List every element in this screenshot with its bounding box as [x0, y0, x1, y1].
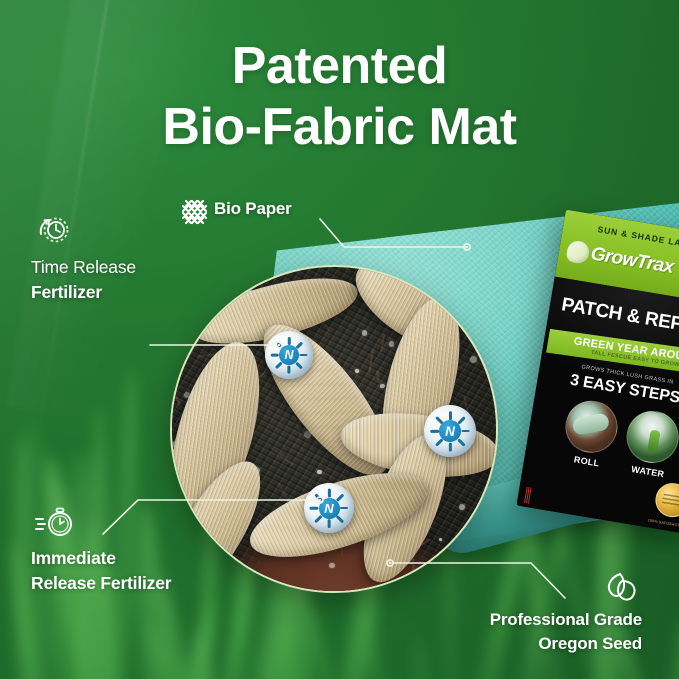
- callout-label-bio-paper: Bio Paper: [214, 199, 292, 219]
- nutrient-label: N: [304, 483, 354, 533]
- nutrient-sphere-lower: N: [304, 483, 354, 533]
- package-step-label: WATER: [620, 462, 675, 481]
- nutrient-label: N: [265, 331, 313, 379]
- infographic-canvas: Patented Bio-Fabric Mat SUN & SHADE LAWN…: [0, 0, 679, 679]
- watering-can-icon: [623, 407, 679, 467]
- fertilizer-granule: [459, 504, 465, 510]
- package-step-label: ROLL: [559, 452, 614, 471]
- soil-fiber: [274, 449, 295, 466]
- fertilizer-granule: [443, 290, 449, 296]
- callout-label-text: Time Release: [31, 255, 136, 280]
- fertilizer-granule: [380, 384, 385, 389]
- callout-label-immediate-release-fertilizer: Immediate Release Fertilizer: [31, 546, 171, 596]
- fertilizer-granule: [362, 330, 367, 335]
- magnified-cross-section: NNN: [170, 265, 498, 593]
- fertilizer-granule: [470, 356, 477, 363]
- soil-fiber: [368, 348, 375, 373]
- package-steps-list: ROLL WATER: [531, 392, 679, 486]
- callout-label-text: Release Fertilizer: [31, 571, 171, 596]
- brand-name: GrowTrax: [589, 243, 675, 278]
- soil-fiber: [175, 396, 181, 405]
- headline-line-1: Patented: [0, 36, 679, 96]
- package-guarantee-seal-icon: [653, 481, 679, 520]
- headline-line-2: Bio-Fabric Mat: [0, 96, 679, 158]
- soil-fiber: [195, 296, 202, 302]
- callout-label-time-release-fertilizer: Time Release Fertilizer: [31, 255, 136, 305]
- package-barcode: [524, 487, 532, 504]
- page-title: Patented Bio-Fabric Mat: [0, 36, 679, 158]
- soil-fiber: [380, 333, 385, 352]
- clock-arrow-icon: [33, 212, 73, 257]
- fertilizer-granule: [329, 563, 335, 569]
- callout-label-text: Oregon Seed: [472, 632, 642, 656]
- fertilizer-granule: [355, 369, 359, 373]
- callout-label-text: Fertilizer: [31, 280, 136, 305]
- nutrient-label: N: [424, 405, 476, 457]
- package-step-roll: ROLL: [559, 397, 623, 471]
- callout-label-professional-grade-oregon-seed: Professional Grade Oregon Seed: [472, 608, 642, 656]
- package-seal-caption: 100% SATISFACTION GUARANTEED: [647, 518, 679, 529]
- soil-fiber: [412, 558, 416, 573]
- callout-label-text: Professional Grade: [472, 608, 642, 632]
- roll-mat-icon: [562, 397, 622, 457]
- nutrient-sphere-upper: N: [265, 331, 313, 379]
- woven-mesh-icon: [179, 197, 209, 232]
- soil-fiber: [454, 547, 464, 561]
- fertilizer-granule: [439, 538, 443, 542]
- two-leaf-icon: [600, 569, 642, 612]
- soil-fiber: [376, 370, 380, 383]
- fertilizer-granule: [237, 281, 244, 288]
- soil-fiber: [196, 266, 205, 275]
- callout-label-text: Bio Paper: [214, 199, 292, 218]
- nutrient-sphere-right: N: [424, 405, 476, 457]
- soil-fiber: [467, 309, 477, 312]
- package-step-water: WATER: [620, 407, 679, 481]
- brand-leaf-icon: [565, 239, 590, 264]
- fertilizer-granule: [470, 335, 477, 342]
- stopwatch-icon: [33, 502, 77, 547]
- fertilizer-granule: [389, 341, 394, 346]
- fertilizer-granule: [317, 470, 322, 475]
- callout-label-text: Immediate: [31, 546, 171, 571]
